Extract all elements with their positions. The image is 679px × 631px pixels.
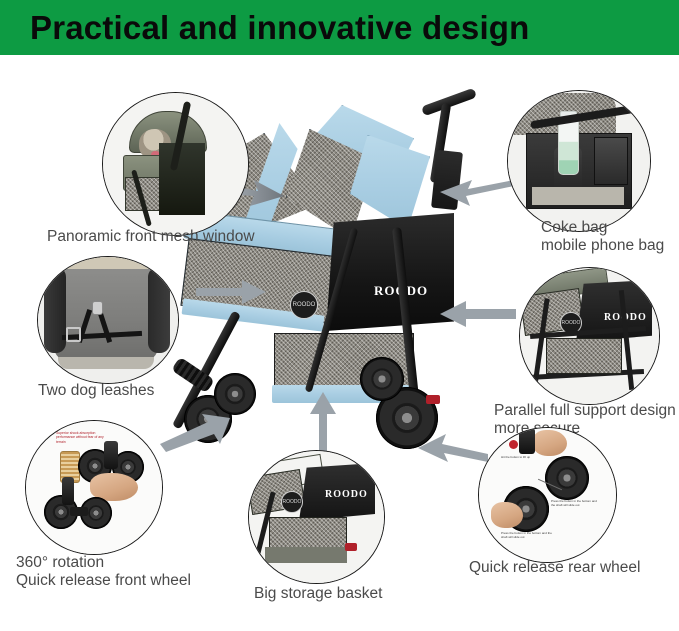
callout-image-front-wheel-quick-release: Superior shock absorption performance wi… bbox=[26, 421, 162, 554]
cabin-top-trim bbox=[62, 257, 154, 269]
label-rear-wheel-quick-release: Quick release rear wheel bbox=[469, 559, 669, 577]
rear-wheel-release-tab bbox=[426, 395, 440, 404]
callout-image-parallel-full-support: ROODO ROODO bbox=[520, 268, 659, 404]
callout-image-rear-wheel-quick-release: Hit the button to lift up Press the butt… bbox=[479, 428, 616, 562]
label-big-storage-basket: Big storage basket bbox=[254, 585, 444, 603]
rear-wheel-detail-right bbox=[545, 456, 589, 500]
basket-release-tab bbox=[345, 543, 357, 551]
brand-emblem: ROODO bbox=[290, 291, 318, 319]
label-panoramic-front-mesh-window: Panoramic front mesh window bbox=[47, 228, 277, 246]
hand-graphic-top bbox=[533, 430, 567, 456]
arrow-to-two-dog-leashes bbox=[196, 276, 268, 308]
callout-image-big-storage-basket: ROODO ROODO bbox=[249, 451, 384, 583]
callout-front-wheel-quick-release: Superior shock absorption performance wi… bbox=[25, 420, 163, 555]
hand-graphic-bottom bbox=[491, 502, 523, 528]
mini-body bbox=[159, 143, 205, 215]
detached-axle bbox=[62, 477, 74, 505]
bag-floor bbox=[532, 187, 624, 205]
rear-wheel-far bbox=[360, 357, 404, 401]
callout-two-dog-leashes bbox=[37, 256, 179, 384]
arrow-to-front-wheel bbox=[160, 414, 230, 454]
release-button-red bbox=[509, 440, 518, 449]
brand-logo-basket: ROODO bbox=[325, 489, 368, 500]
leash-buckle bbox=[66, 327, 81, 342]
arrow-to-rear-wheel bbox=[418, 432, 488, 466]
infographic-root: Practical and innovative design ROODO RO… bbox=[0, 0, 679, 631]
rear-wheel-inset-text-top: Hit the button to lift up bbox=[501, 456, 547, 460]
basket-bottom-trim bbox=[265, 547, 347, 563]
callout-image-two-dog-leashes bbox=[38, 257, 178, 383]
label-two-dog-leashes: Two dog leashes bbox=[38, 382, 238, 400]
wheel-axle-stub bbox=[104, 441, 118, 469]
callout-coke-bag bbox=[507, 90, 651, 232]
bag-side-pocket bbox=[594, 137, 628, 185]
callout-big-storage-basket: ROODO ROODO bbox=[248, 450, 385, 584]
brand-emblem-basket: ROODO bbox=[281, 491, 303, 513]
leash-clip bbox=[92, 301, 103, 315]
cabin-wall-left bbox=[44, 267, 66, 353]
label-coke-bag: Coke bag mobile phone bag bbox=[541, 219, 679, 256]
rear-wheel-inset-text: Press the button in the bottom and the s… bbox=[551, 500, 601, 508]
callout-image-panoramic-front-mesh-window bbox=[103, 93, 248, 235]
rear-wheel-inset-text-bottom: Press the button in the bottom and the s… bbox=[501, 532, 553, 540]
header-banner: Practical and innovative design bbox=[0, 0, 679, 55]
rear-axle-top bbox=[519, 428, 535, 454]
detached-connector bbox=[70, 507, 88, 516]
cabin-wall-right bbox=[148, 267, 170, 353]
support-basket-mesh bbox=[546, 338, 622, 374]
cabin-floor-trim bbox=[58, 357, 154, 369]
label-front-wheel-quick-release: 360° rotation Quick release front wheel bbox=[16, 554, 246, 591]
callout-rear-wheel-quick-release: Hit the button to lift up Press the butt… bbox=[478, 427, 617, 563]
cabin-interior bbox=[54, 265, 158, 361]
page-title: Practical and innovative design bbox=[0, 11, 530, 44]
arrow-to-coke-bag bbox=[440, 176, 514, 210]
water-bottle bbox=[558, 117, 579, 175]
callout-panoramic-front-mesh-window bbox=[102, 92, 249, 236]
callout-parallel-full-support: ROODO ROODO bbox=[519, 267, 660, 405]
basket-mesh-bottom bbox=[269, 517, 347, 551]
arrow-to-parallel-full-support bbox=[440, 300, 516, 328]
callout-image-coke-bag bbox=[508, 91, 650, 231]
